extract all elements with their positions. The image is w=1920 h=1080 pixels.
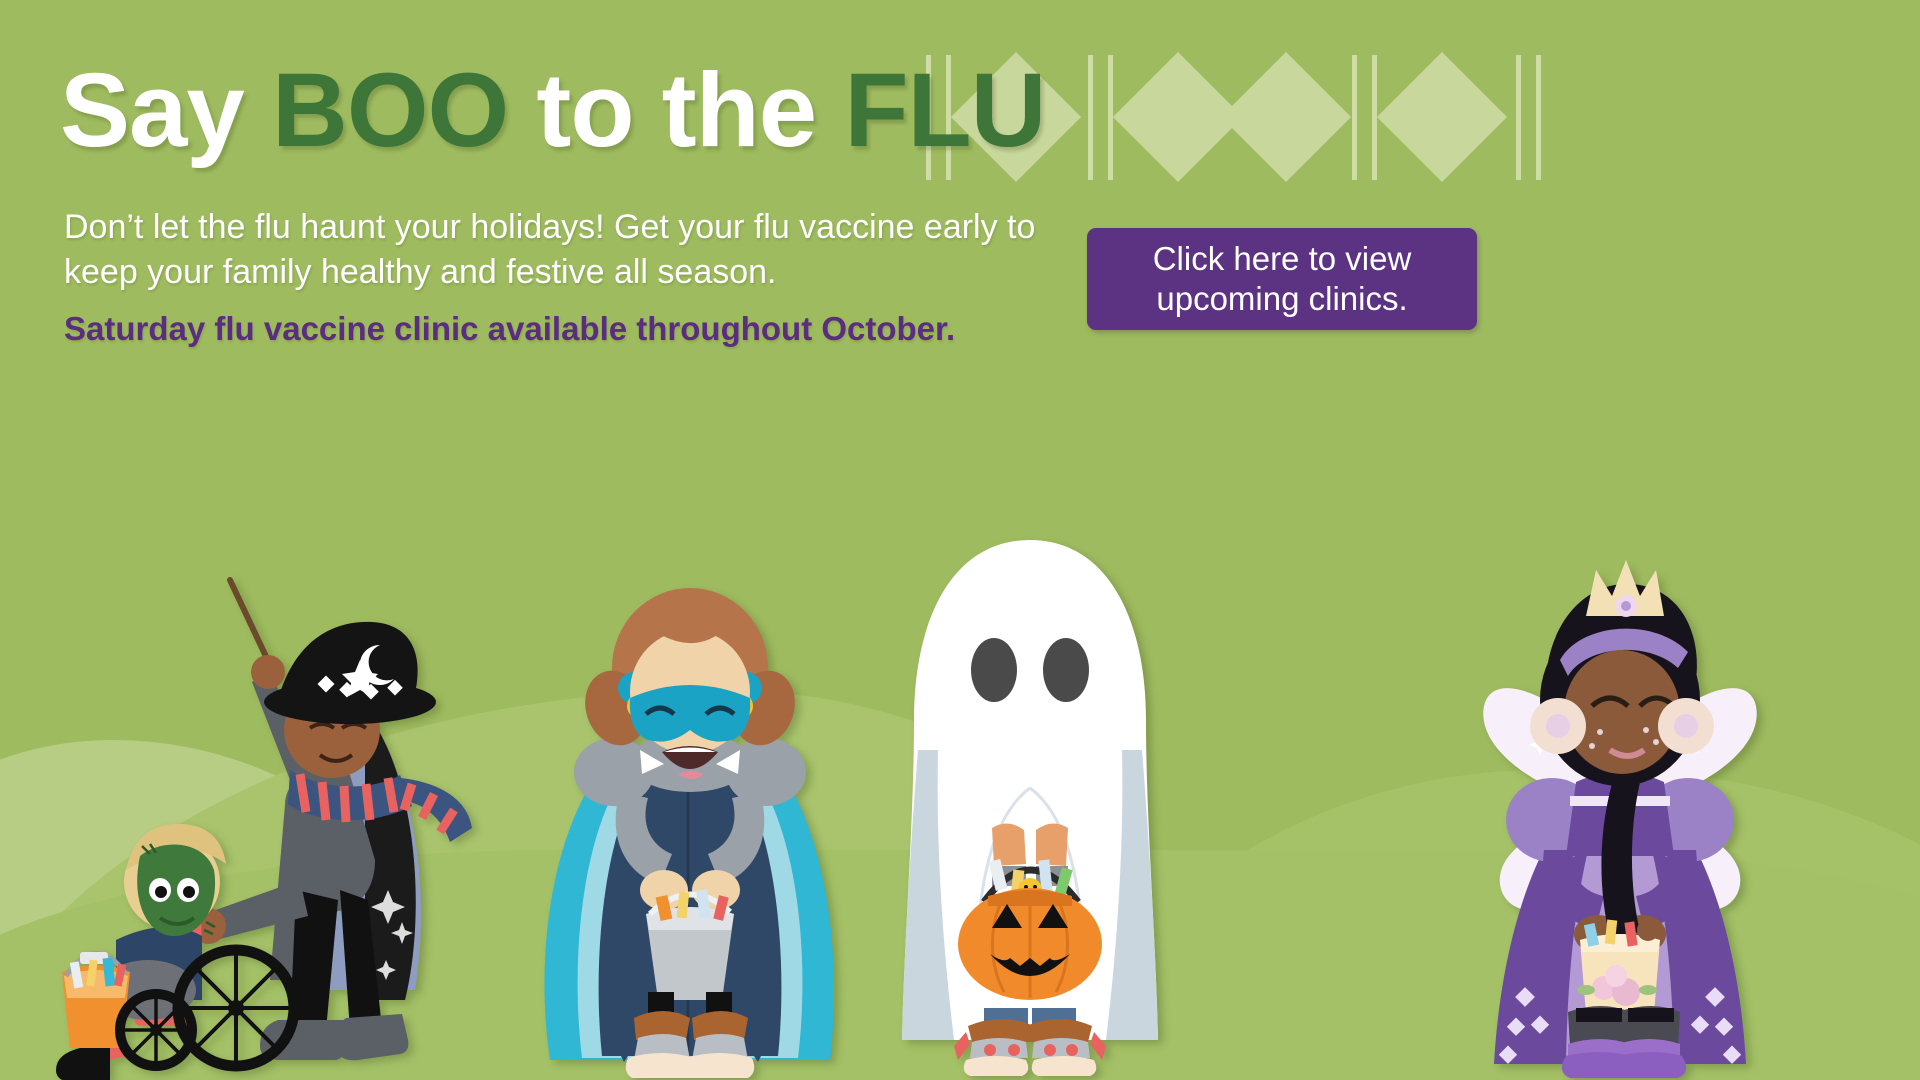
headline-say: Say (60, 52, 272, 169)
headline-tothe: to the (508, 52, 844, 169)
illustration-ghost-kid (880, 520, 1180, 1080)
illustration-wheelchair-boy-and-wizard (20, 560, 500, 1080)
headline-flu: FLU (844, 52, 1045, 169)
body-text: Don’t let the flu haunt your holidays! G… (64, 205, 1054, 295)
flu-campaign-banner: Say BOO to the FLU Don’t let the flu hau… (0, 0, 1920, 1080)
clinic-availability-text: Saturday flu vaccine clinic available th… (64, 308, 1074, 351)
view-clinics-button[interactable]: Click here to view upcoming clinics. (1087, 228, 1477, 330)
illustration-fairy-princess (1440, 520, 1800, 1080)
page-title: Say BOO to the FLU (60, 56, 1045, 166)
headline-boo: BOO (272, 52, 508, 169)
illustration-masked-girl (530, 540, 850, 1080)
